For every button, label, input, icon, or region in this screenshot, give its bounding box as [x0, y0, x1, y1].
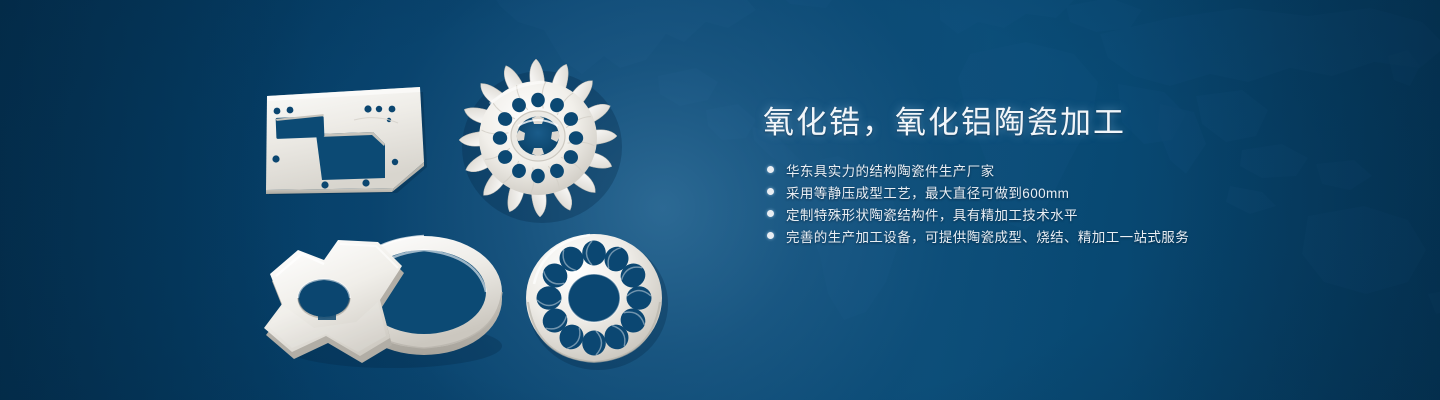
ceramic-impeller	[452, 52, 628, 228]
ceramic-star-and-ring	[252, 226, 514, 368]
hero-banner: 氧化锆，氧化铝陶瓷加工 华东具实力的结构陶瓷件生产厂家 采用等静压成型工艺，最大…	[0, 0, 1440, 400]
list-item: 完善的生产加工设备，可提供陶瓷成型、烧结、精加工一站式服务	[767, 225, 1323, 247]
bullet-dot-icon	[767, 210, 774, 217]
list-item: 采用等静压成型工艺，最大直径可做到600mm	[767, 181, 1323, 203]
list-item-label: 定制特殊形状陶瓷结构件，具有精加工技术水平	[786, 204, 1078, 224]
ceramic-plate	[258, 84, 430, 196]
list-item: 定制特殊形状陶瓷结构件，具有精加工技术水平	[767, 203, 1323, 225]
list-item-label: 华东具实力的结构陶瓷件生产厂家	[786, 160, 995, 180]
ceramic-perforated-disc	[520, 228, 672, 368]
ceramic-star-shape	[264, 240, 404, 363]
bullet-dot-icon	[767, 188, 774, 195]
list-item-label: 采用等静压成型工艺，最大直径可做到600mm	[786, 182, 1069, 202]
list-item: 华东具实力的结构陶瓷件生产厂家	[767, 159, 1323, 181]
bullet-dot-icon	[767, 166, 774, 173]
bullet-dot-icon	[767, 232, 774, 239]
product-photo-cluster	[0, 0, 720, 400]
list-item-label: 完善的生产加工设备，可提供陶瓷成型、烧结、精加工一站式服务	[786, 226, 1189, 246]
banner-copy: 氧化锆，氧化铝陶瓷加工 华东具实力的结构陶瓷件生产厂家 采用等静压成型工艺，最大…	[763, 104, 1323, 247]
feature-list: 华东具实力的结构陶瓷件生产厂家 采用等静压成型工艺，最大直径可做到600mm 定…	[763, 159, 1323, 247]
page-title: 氧化锆，氧化铝陶瓷加工	[763, 104, 1323, 143]
